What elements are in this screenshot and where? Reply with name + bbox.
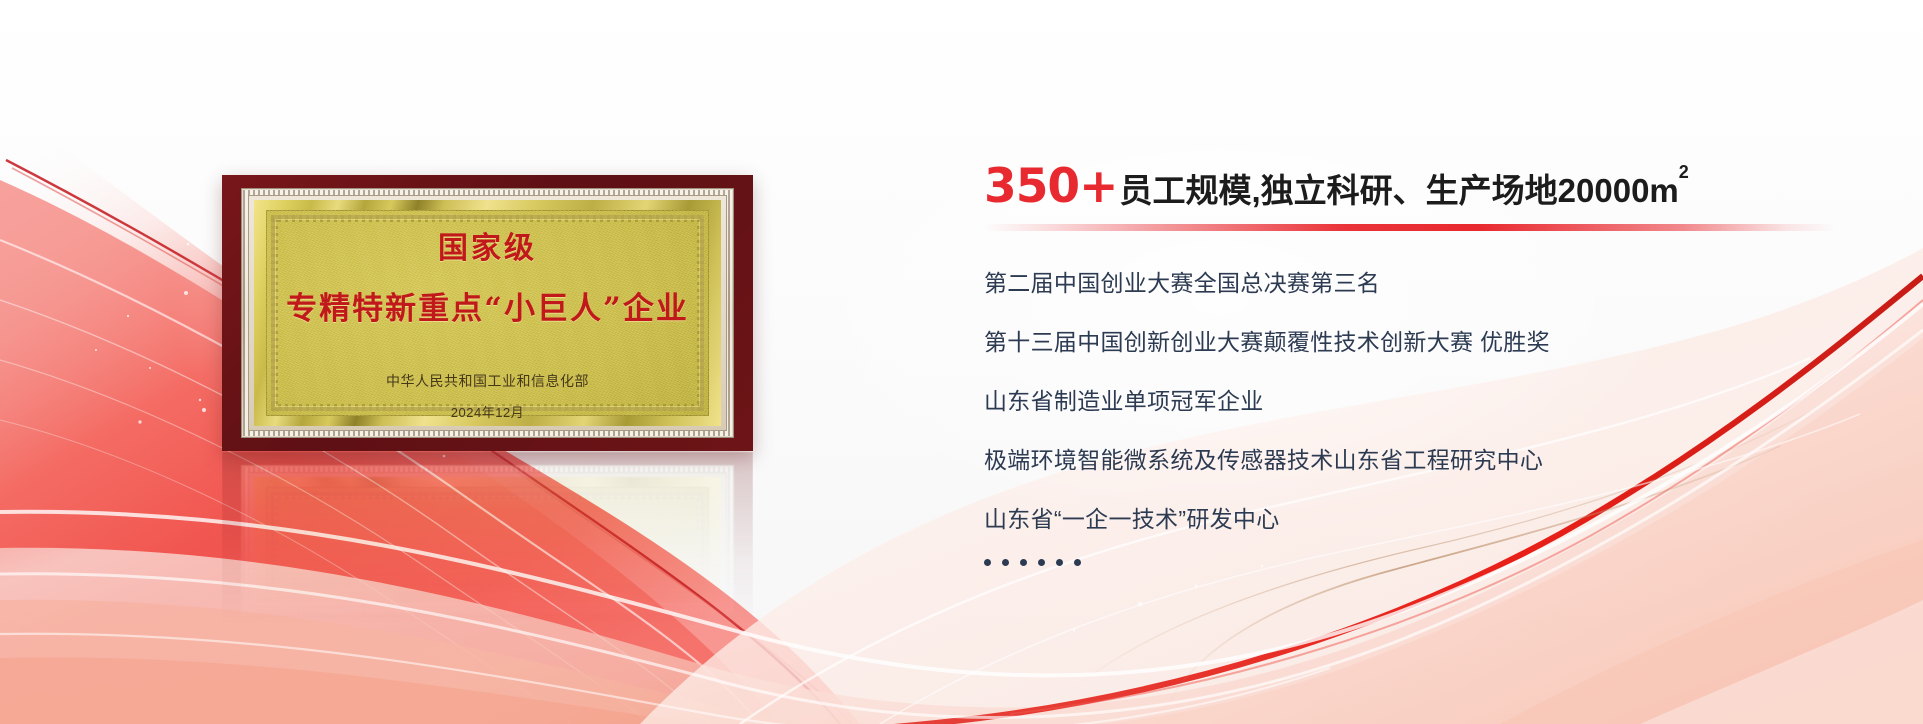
plaque-date-text: 2024年12月 <box>451 402 524 421</box>
banner-canvas: 国家级 专精特新重点“小巨人”企业 中华人民共和国工业和信息化部 2024年12… <box>0 0 1923 724</box>
ellipsis-dot <box>1002 559 1009 566</box>
award-list-ellipsis <box>984 559 1864 566</box>
content-column: 350+ 员工规模,独立科研、生产场地20000m2 第二届中国创业大赛全国总决… <box>984 163 1864 566</box>
ellipsis-dot <box>1074 559 1081 566</box>
headline-superscript: 2 <box>1679 162 1689 182</box>
ellipsis-dot <box>1020 559 1027 566</box>
award-list: 第二届中国创业大赛全国总决赛第三名 第十三届中国创新创业大赛颠覆性技术创新大赛 … <box>984 272 1864 566</box>
ellipsis-dot <box>1056 559 1063 566</box>
headline-underline <box>984 224 1836 231</box>
headline-text-body: 员工规模,独立科研、生产场地20000m <box>1120 172 1679 209</box>
plaque-frame: 国家级 专精特新重点“小巨人”企业 中华人民共和国工业和信息化部 2024年12… <box>222 175 753 451</box>
award-list-item: 山东省“一企一技术”研发中心 <box>984 508 1864 531</box>
plaque-level-text: 国家级 <box>438 223 537 267</box>
award-list-item: 第二届中国创业大赛全国总决赛第三名 <box>984 272 1864 295</box>
plaque-issuer-text: 中华人民共和国工业和信息化部 <box>386 371 589 391</box>
headline-number: 350+ <box>984 163 1118 210</box>
plaque-title-text: 专精特新重点“小巨人”企业 <box>286 283 689 328</box>
ellipsis-dot <box>1038 559 1045 566</box>
headline-text: 员工规模,独立科研、生产场地20000m2 <box>1120 174 1689 207</box>
headline: 350+ 员工规模,独立科研、生产场地20000m2 <box>984 163 1864 210</box>
award-list-item: 山东省制造业单项冠军企业 <box>984 390 1864 413</box>
award-list-item: 极端环境智能微系统及传感器技术山东省工程研究中心 <box>984 449 1864 472</box>
award-list-item: 第十三届中国创新创业大赛颠覆性技术创新大赛 优胜奖 <box>984 331 1864 354</box>
ellipsis-dot <box>984 559 991 566</box>
plaque-inscription: 国家级 专精特新重点“小巨人”企业 中华人民共和国工业和信息化部 2024年12… <box>222 175 753 451</box>
award-plaque: 国家级 专精特新重点“小巨人”企业 中华人民共和国工业和信息化部 2024年12… <box>222 175 753 451</box>
